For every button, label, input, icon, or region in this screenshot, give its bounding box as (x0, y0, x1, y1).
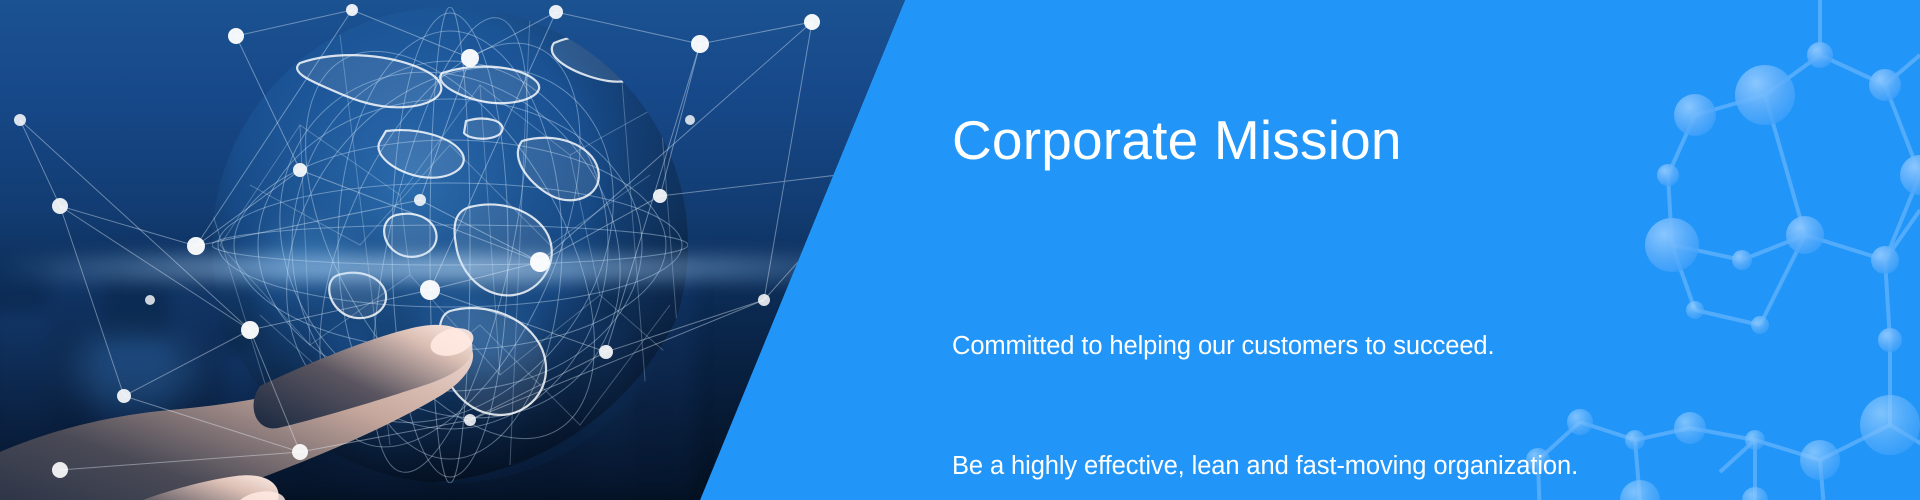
page-title: Corporate Mission (952, 112, 1712, 170)
mission-statement: Committed to helping our customers to su… (952, 246, 1712, 500)
corporate-mission-banner: Corporate Mission Committed to helping o… (0, 0, 1920, 500)
mission-line-1: Committed to helping our customers to su… (952, 326, 1712, 366)
text-content: Corporate Mission Committed to helping o… (952, 0, 1712, 500)
mission-line-2: Be a highly effective, lean and fast-mov… (952, 446, 1712, 486)
